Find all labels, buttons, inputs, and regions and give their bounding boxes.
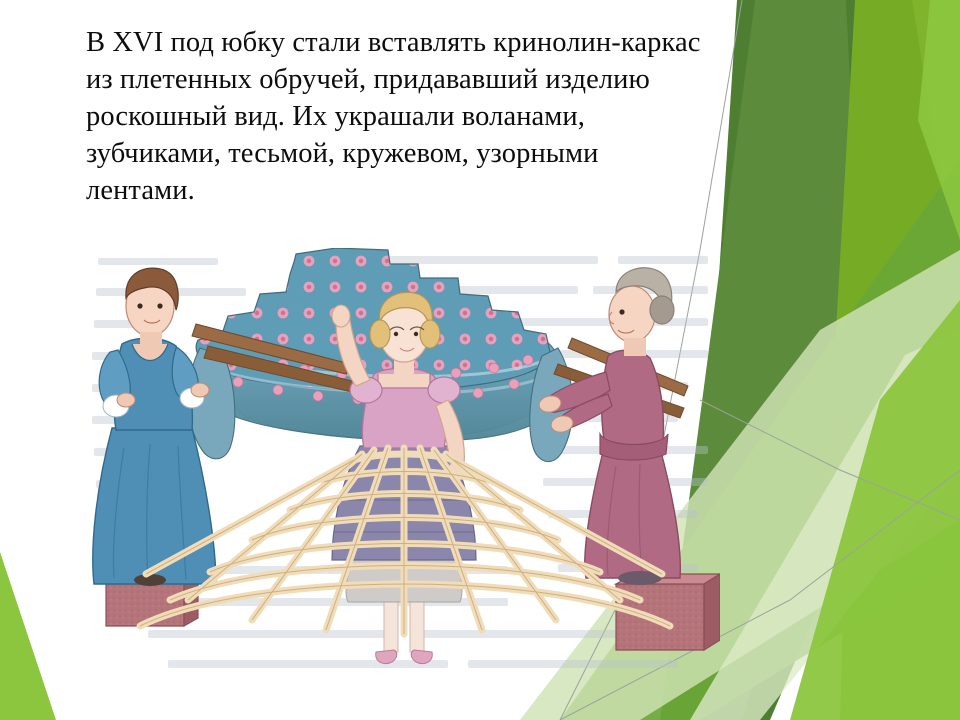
deco-shape-pale-sweep-2 <box>690 330 960 720</box>
deco-shape-dark-wedge <box>690 0 890 720</box>
deco-shape-right-bright <box>840 0 960 720</box>
deco-shape-bottom-left <box>0 552 56 720</box>
deco-shape-foreground-wedge <box>790 300 960 720</box>
deco-shape-sliver <box>918 0 960 240</box>
crinoline-cage-illustration <box>88 248 720 680</box>
deco-hairline-3 <box>700 400 960 520</box>
slide-body-text: В XVI под юбку стали вставлять кринолин-… <box>86 24 706 209</box>
deco-shape-bright-band <box>836 0 960 720</box>
slide-canvas: В XVI под юбку стали вставлять кринолин-… <box>0 0 960 720</box>
